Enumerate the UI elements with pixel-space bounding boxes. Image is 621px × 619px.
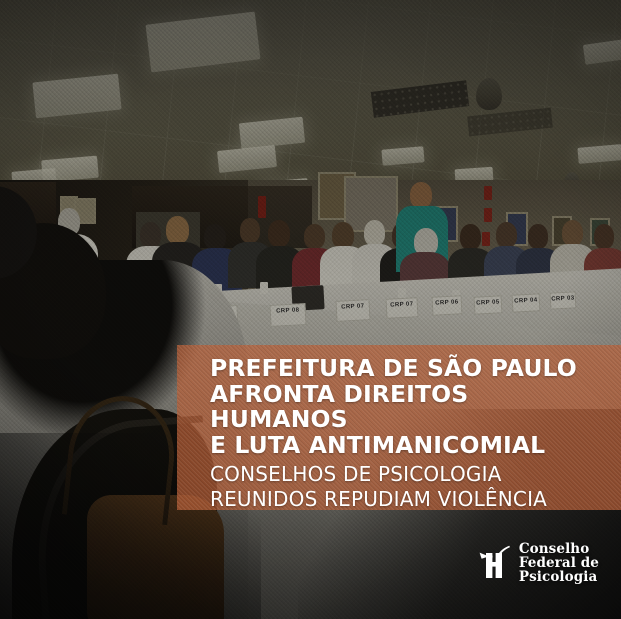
social-media-banner: CRP 08 CRP 08 CRP 08 CRP 07 CRP 07 CRP 0… <box>0 0 621 619</box>
headline-line-2: AFRONTA DIREITOS HUMANOS <box>210 382 613 433</box>
cfp-logo: Conselho Federal de Psicologia <box>478 542 599 584</box>
subheadline-line-1: CONSELHOS DE PSICOLOGIA <box>210 462 613 487</box>
page-title: PREFEITURA DE SÃO PAULO AFRONTA DIREITOS… <box>210 356 613 458</box>
cfp-logo-text: Conselho Federal de Psicologia <box>519 542 599 584</box>
logo-line-1: Conselho <box>519 542 599 556</box>
headline-copy-block: PREFEITURA DE SÃO PAULO AFRONTA DIREITOS… <box>210 356 613 512</box>
meeting-room-photo: CRP 08 CRP 08 CRP 08 CRP 07 CRP 07 CRP 0… <box>0 0 621 619</box>
logo-line-3: Psicologia <box>519 570 599 584</box>
cfp-logo-mark <box>478 545 510 581</box>
subtitle: CONSELHOS DE PSICOLOGIA REUNIDOS REPUDIA… <box>210 462 613 512</box>
subheadline-line-2: REUNIDOS REPUDIAM VIOLÊNCIA <box>210 487 613 512</box>
logo-line-2: Federal de <box>519 556 599 570</box>
headline-line-3: E LUTA ANTIMANICOMIAL <box>210 433 613 459</box>
headline-line-1: PREFEITURA DE SÃO PAULO <box>210 356 613 382</box>
